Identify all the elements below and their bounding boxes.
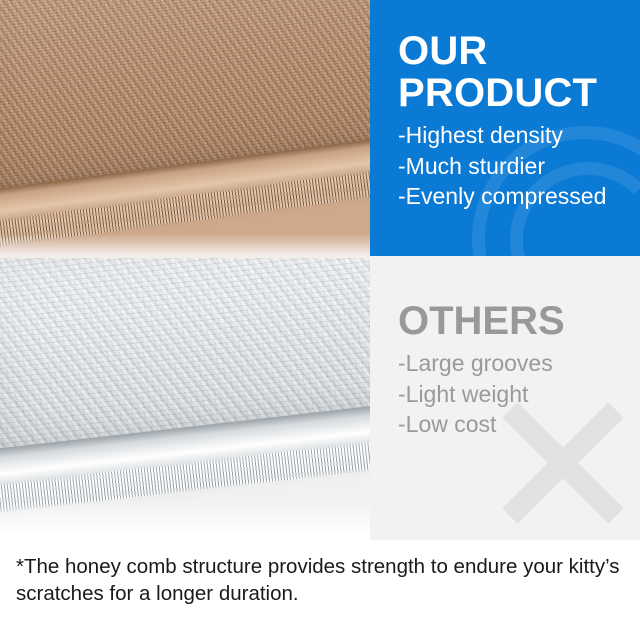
others-heading: OTHERS [398,300,632,342]
others-panel: OTHERS -Large grooves -Light weight -Low… [370,256,640,540]
others-photo [0,258,392,540]
our-product-bullet-1: -Highest density [398,120,632,151]
others-bullet-3: -Low cost [398,409,632,440]
our-product-panel: OUR PRODUCT -Highest density -Much sturd… [370,0,640,256]
our-product-photo [0,0,392,268]
our-product-panel-content: OUR PRODUCT -Highest density -Much sturd… [398,30,632,212]
others-photo-fade [0,500,392,540]
footnote-text: *The honey comb structure provides stren… [0,540,640,607]
our-product-bullet-list: -Highest density -Much sturdier -Evenly … [398,120,632,212]
our-product-bullet-3: -Evenly compressed [398,181,632,212]
our-product-heading: OUR PRODUCT [398,30,632,114]
others-panel-content: OTHERS -Large grooves -Light weight -Low… [398,300,632,440]
footnote-area: *The honey comb structure provides stren… [0,540,640,640]
our-product-bullet-2: -Much sturdier [398,151,632,182]
others-bullet-list: -Large grooves -Light weight -Low cost [398,348,632,440]
others-bullet-2: -Light weight [398,379,632,410]
others-bullet-1: -Large grooves [398,348,632,379]
infographic-canvas: OUR PRODUCT -Highest density -Much sturd… [0,0,640,640]
